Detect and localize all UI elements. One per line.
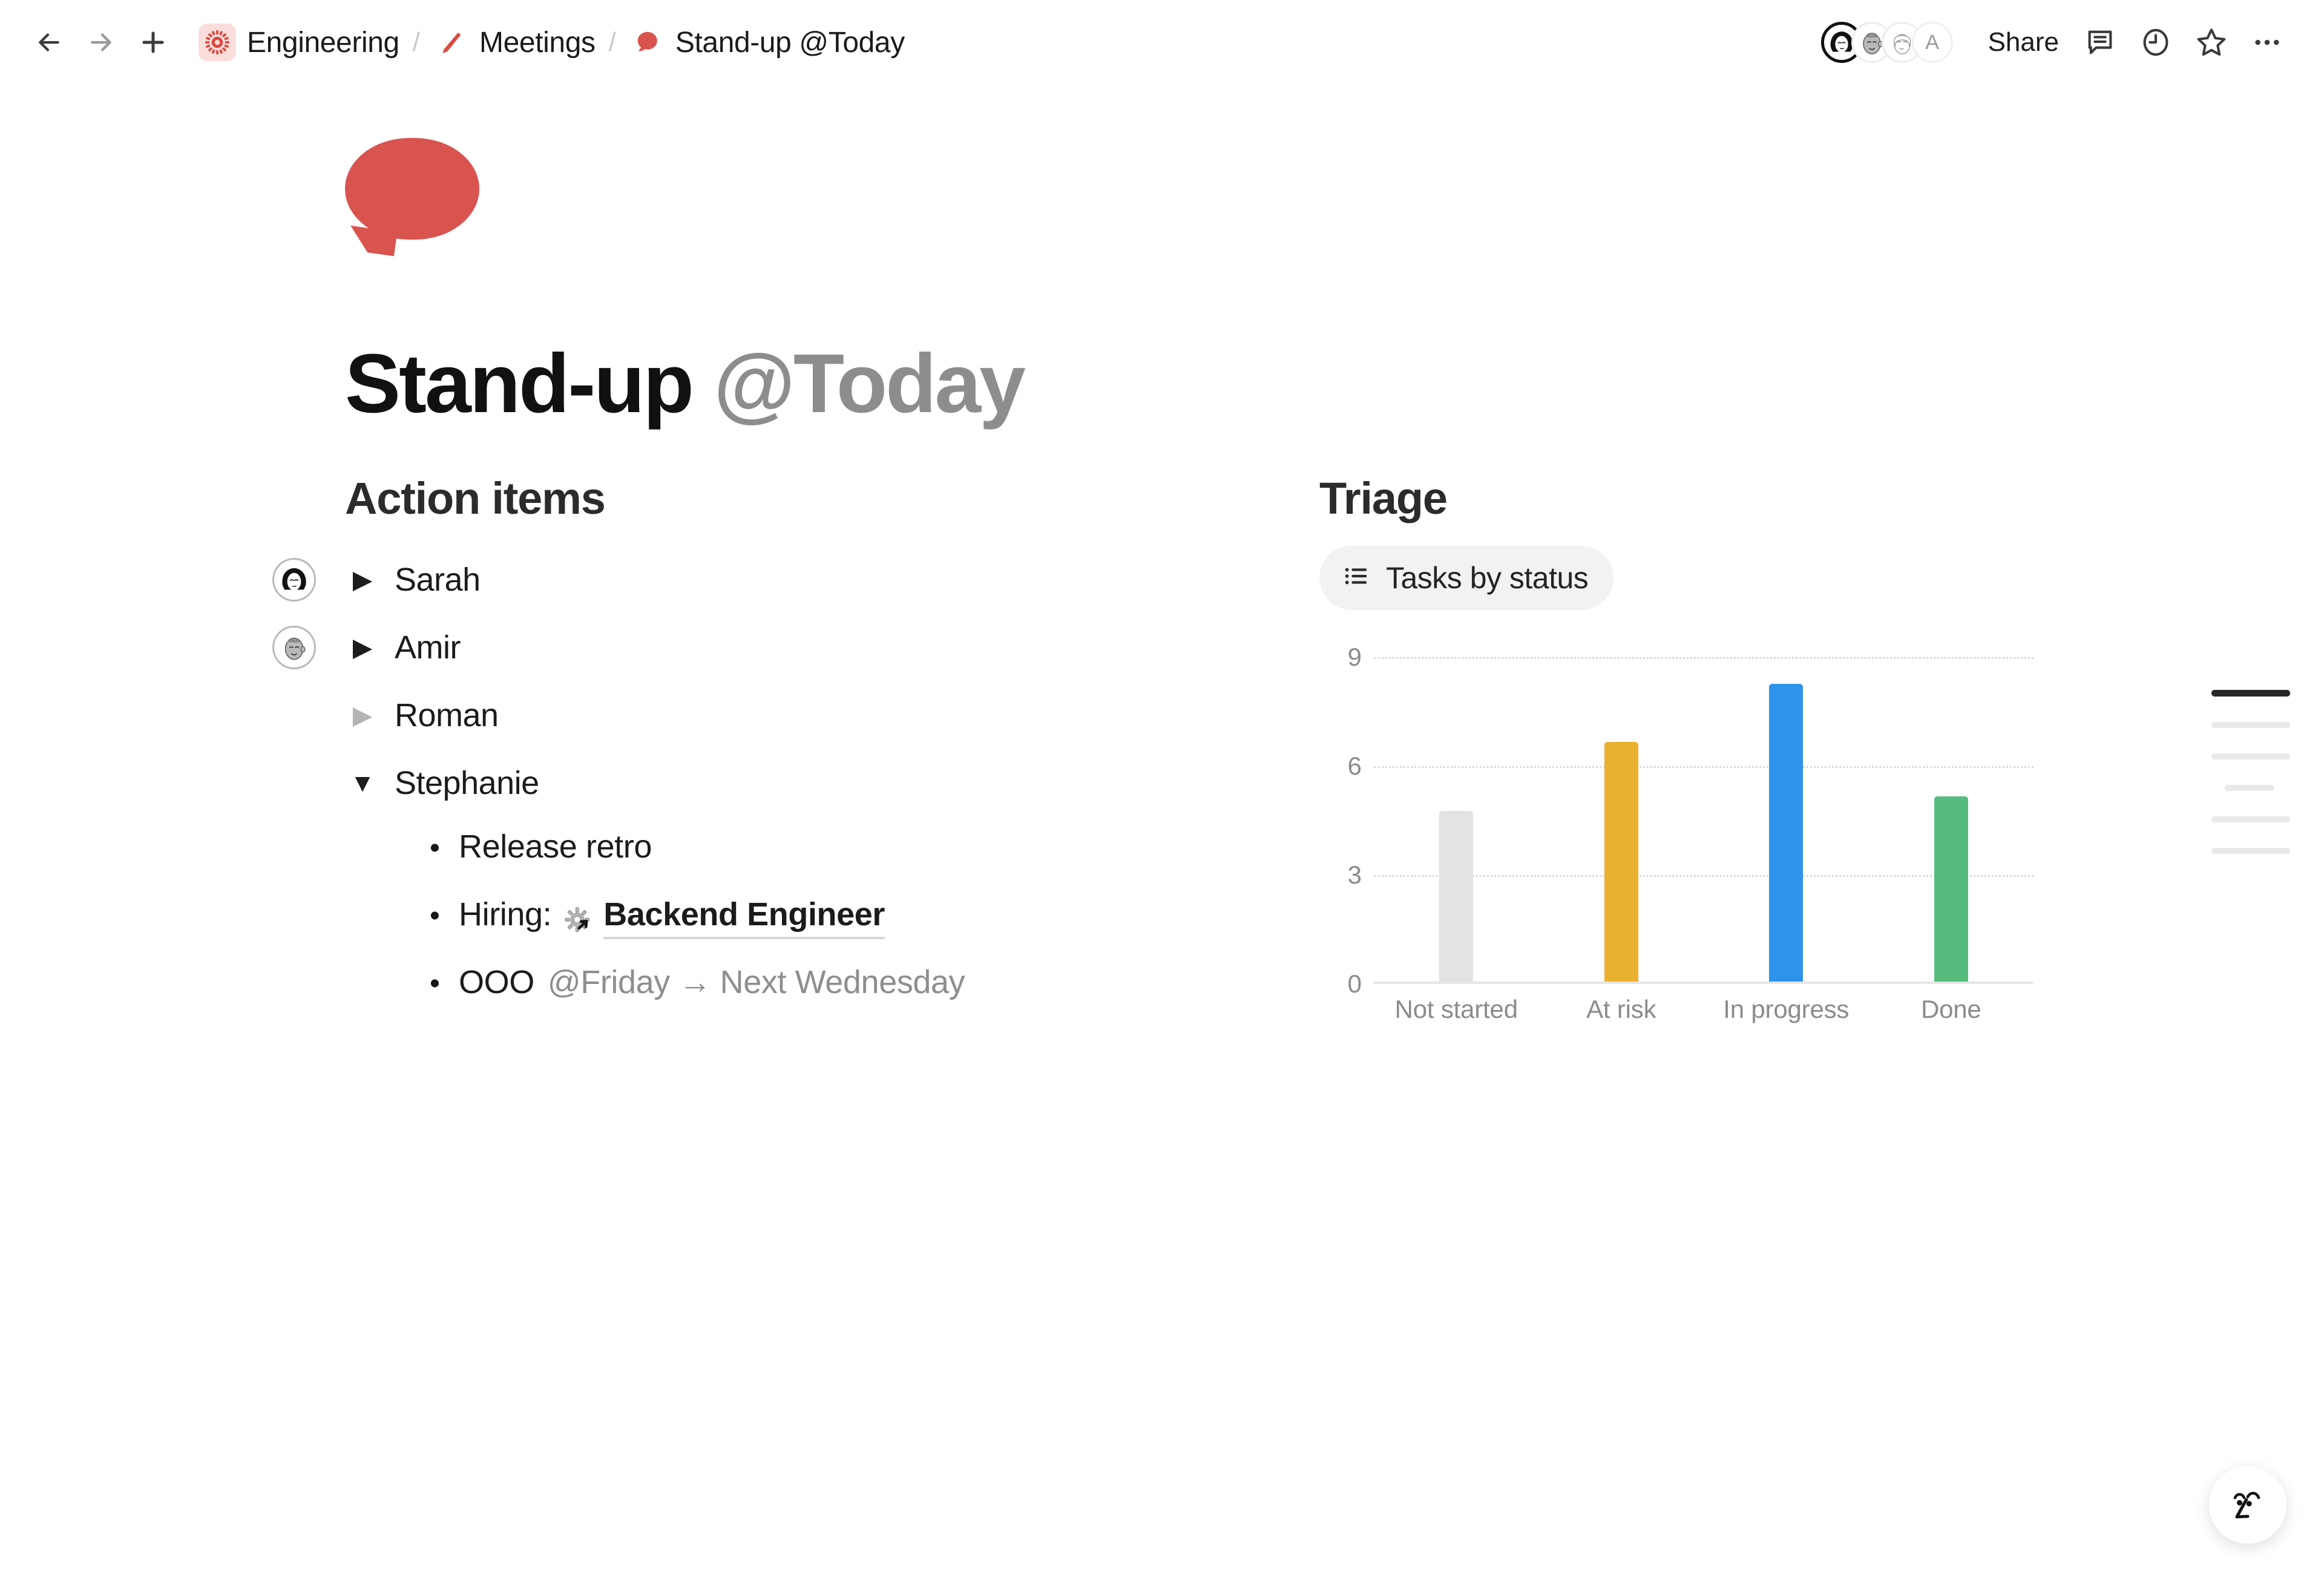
toggle-row-roman[interactable]: ▶ Roman bbox=[345, 681, 1265, 749]
assistant-fab-button[interactable] bbox=[2209, 1466, 2286, 1544]
outline-bar-2[interactable] bbox=[2211, 722, 2290, 728]
toggle-row-amir[interactable]: ▶ Amir bbox=[345, 614, 1265, 681]
chart-plot-area: 9 6 3 0 bbox=[1374, 657, 2033, 984]
favorite-button[interactable] bbox=[2184, 16, 2239, 68]
share-button[interactable]: Share bbox=[1975, 21, 2072, 64]
chart-x-labels: Not started At risk In progress Done bbox=[1374, 995, 2033, 1024]
navigation-controls bbox=[23, 16, 179, 68]
toggle-triangle-amir[interactable]: ▶ bbox=[345, 635, 380, 660]
page-link-backend-engineer[interactable]: Backend Engineer bbox=[563, 896, 885, 939]
bar-slot-in-progress bbox=[1704, 655, 1869, 982]
top-bar: Engineering / Meetings / Stand-up @Today bbox=[0, 0, 2324, 85]
breadcrumb-item-meetings[interactable]: Meetings bbox=[427, 21, 602, 64]
triage-column: Triage Tasks by status bbox=[1319, 473, 2167, 1032]
comments-button[interactable] bbox=[2072, 16, 2128, 68]
bullet-prefix-ooo: OOO bbox=[459, 963, 534, 1001]
outline-bar-5[interactable] bbox=[2211, 816, 2290, 822]
toggle-label-amir[interactable]: Amir bbox=[395, 629, 461, 666]
pencil-emoji-icon bbox=[433, 25, 468, 60]
star-icon bbox=[2195, 26, 2228, 59]
assistant-face-icon bbox=[2226, 1483, 2270, 1527]
plus-icon bbox=[137, 27, 169, 58]
document-outline-rail[interactable] bbox=[2211, 690, 2290, 854]
new-page-button[interactable] bbox=[127, 16, 179, 68]
bar-slot-not-started bbox=[1374, 655, 1539, 982]
tasks-by-status-chart: 9 6 3 0 bbox=[1319, 657, 2033, 1032]
y-tick-9: 9 bbox=[1313, 643, 1362, 672]
bar-in-progress[interactable] bbox=[1769, 684, 1803, 982]
list-item[interactable]: • Release retro bbox=[430, 828, 1265, 896]
history-button[interactable] bbox=[2128, 16, 2184, 68]
chart-bars bbox=[1374, 655, 2033, 982]
arrow-right-icon bbox=[86, 27, 116, 57]
breadcrumb-separator: / bbox=[405, 27, 427, 57]
outline-bar-6[interactable] bbox=[2211, 848, 2290, 854]
breadcrumb-separator-2: / bbox=[602, 27, 623, 57]
clock-history-icon bbox=[2140, 27, 2171, 58]
top-bar-actions: A Share bbox=[1821, 16, 2295, 68]
page-title-date: @Today bbox=[714, 337, 1024, 430]
page-title[interactable]: Stand-up @Today bbox=[345, 340, 2161, 428]
bullet-dot: • bbox=[430, 969, 459, 999]
breadcrumb-label-meetings: Meetings bbox=[479, 26, 596, 59]
page-inner: Stand-up @Today Action items bbox=[345, 85, 2161, 1032]
toggle-row-stephanie[interactable]: ▼ Stephanie bbox=[345, 749, 1265, 817]
avatar-letter-a[interactable]: A bbox=[1912, 22, 1953, 63]
breadcrumb-item-standup[interactable]: Stand-up @Today bbox=[623, 21, 911, 64]
date-range-badge[interactable]: @Friday → Next Wednesday bbox=[548, 963, 965, 1001]
avatar-sarah-row[interactable] bbox=[272, 558, 316, 602]
page-title-main: Stand-up bbox=[345, 337, 714, 430]
outline-bar-3[interactable] bbox=[2211, 753, 2290, 759]
breadcrumb-label-standup: Stand-up @Today bbox=[675, 26, 905, 59]
toggle-row-sarah[interactable]: ▶ Sarah bbox=[345, 546, 1265, 614]
toggle-label-sarah[interactable]: Sarah bbox=[395, 561, 481, 598]
outline-bar-4[interactable] bbox=[2225, 785, 2274, 791]
bar-done[interactable] bbox=[1934, 796, 1968, 982]
action-items-heading[interactable]: Action items bbox=[345, 473, 1265, 524]
list-item[interactable]: • OOO @Friday → Next Wednesday bbox=[430, 963, 1265, 1031]
breadcrumb-item-engineering[interactable]: Engineering bbox=[192, 20, 405, 65]
toggle-label-roman[interactable]: Roman bbox=[395, 697, 499, 734]
view-chip-label: Tasks by status bbox=[1386, 560, 1588, 595]
toggle-triangle-roman[interactable]: ▶ bbox=[345, 703, 380, 728]
gear-link-icon bbox=[563, 907, 595, 938]
more-horizontal-icon bbox=[2251, 26, 2283, 59]
forward-button[interactable] bbox=[75, 16, 127, 68]
breadcrumb-label-engineering: Engineering bbox=[247, 26, 399, 59]
page-link-label: Backend Engineer bbox=[603, 896, 885, 939]
y-tick-0: 0 bbox=[1313, 969, 1362, 999]
content-columns: Action items ▶ Sarah bbox=[345, 473, 2161, 1032]
toggle-label-stephanie[interactable]: Stephanie bbox=[395, 764, 539, 802]
comment-icon bbox=[2084, 27, 2116, 58]
action-items-column: Action items ▶ Sarah bbox=[345, 473, 1265, 1031]
x-label-not-started: Not started bbox=[1374, 995, 1539, 1024]
page-content: Stand-up @Today Action items bbox=[0, 85, 2324, 1574]
bullet-ooo[interactable]: OOO @Friday → Next Wednesday bbox=[459, 963, 965, 1001]
toggle-triangle-sarah[interactable]: ▶ bbox=[345, 567, 380, 592]
y-tick-6: 6 bbox=[1313, 752, 1362, 781]
page-icon-speech-bubble[interactable] bbox=[345, 138, 484, 277]
bullet-hiring[interactable]: Hiring: bbox=[459, 896, 885, 939]
bar-slot-at-risk bbox=[1539, 655, 1704, 982]
chart-baseline bbox=[1374, 982, 2033, 984]
bullet-dot: • bbox=[430, 902, 459, 931]
y-tick-3: 3 bbox=[1313, 861, 1362, 890]
avatar-initial: A bbox=[1925, 31, 1939, 54]
collaborator-avatars: A bbox=[1821, 22, 1953, 63]
toggle-triangle-stephanie[interactable]: ▼ bbox=[345, 770, 380, 796]
outline-bar-1[interactable] bbox=[2211, 690, 2290, 697]
more-options-button[interactable] bbox=[2239, 16, 2295, 68]
stephanie-bullet-list: • Release retro • Hiring: bbox=[345, 828, 1265, 1031]
bar-at-risk[interactable] bbox=[1604, 742, 1638, 982]
list-item[interactable]: • Hiring: bbox=[430, 896, 1265, 963]
speech-bubble-body bbox=[345, 138, 479, 240]
view-chip-tasks-by-status[interactable]: Tasks by status bbox=[1319, 546, 1613, 610]
bullet-dot: • bbox=[430, 834, 459, 863]
x-label-in-progress: In progress bbox=[1704, 995, 1869, 1024]
triage-heading[interactable]: Triage bbox=[1319, 473, 2167, 524]
breadcrumb: Engineering / Meetings / Stand-up @Today bbox=[192, 20, 911, 65]
x-label-at-risk: At risk bbox=[1539, 995, 1704, 1024]
arrow-left-icon bbox=[34, 27, 64, 57]
bar-slot-done bbox=[1869, 655, 2034, 982]
gear-emoji-icon bbox=[199, 24, 236, 61]
bar-not-started[interactable] bbox=[1439, 811, 1473, 982]
x-label-done: Done bbox=[1869, 995, 2034, 1024]
bullet-label-release-retro[interactable]: Release retro bbox=[459, 828, 652, 865]
back-button[interactable] bbox=[23, 16, 75, 68]
bullet-prefix-hiring: Hiring: bbox=[459, 896, 551, 933]
list-view-icon bbox=[1342, 562, 1370, 593]
speech-bubble-icon bbox=[345, 138, 483, 259]
avatar-amir-row[interactable] bbox=[272, 626, 316, 669]
speech-bubble-emoji-icon bbox=[629, 25, 665, 60]
